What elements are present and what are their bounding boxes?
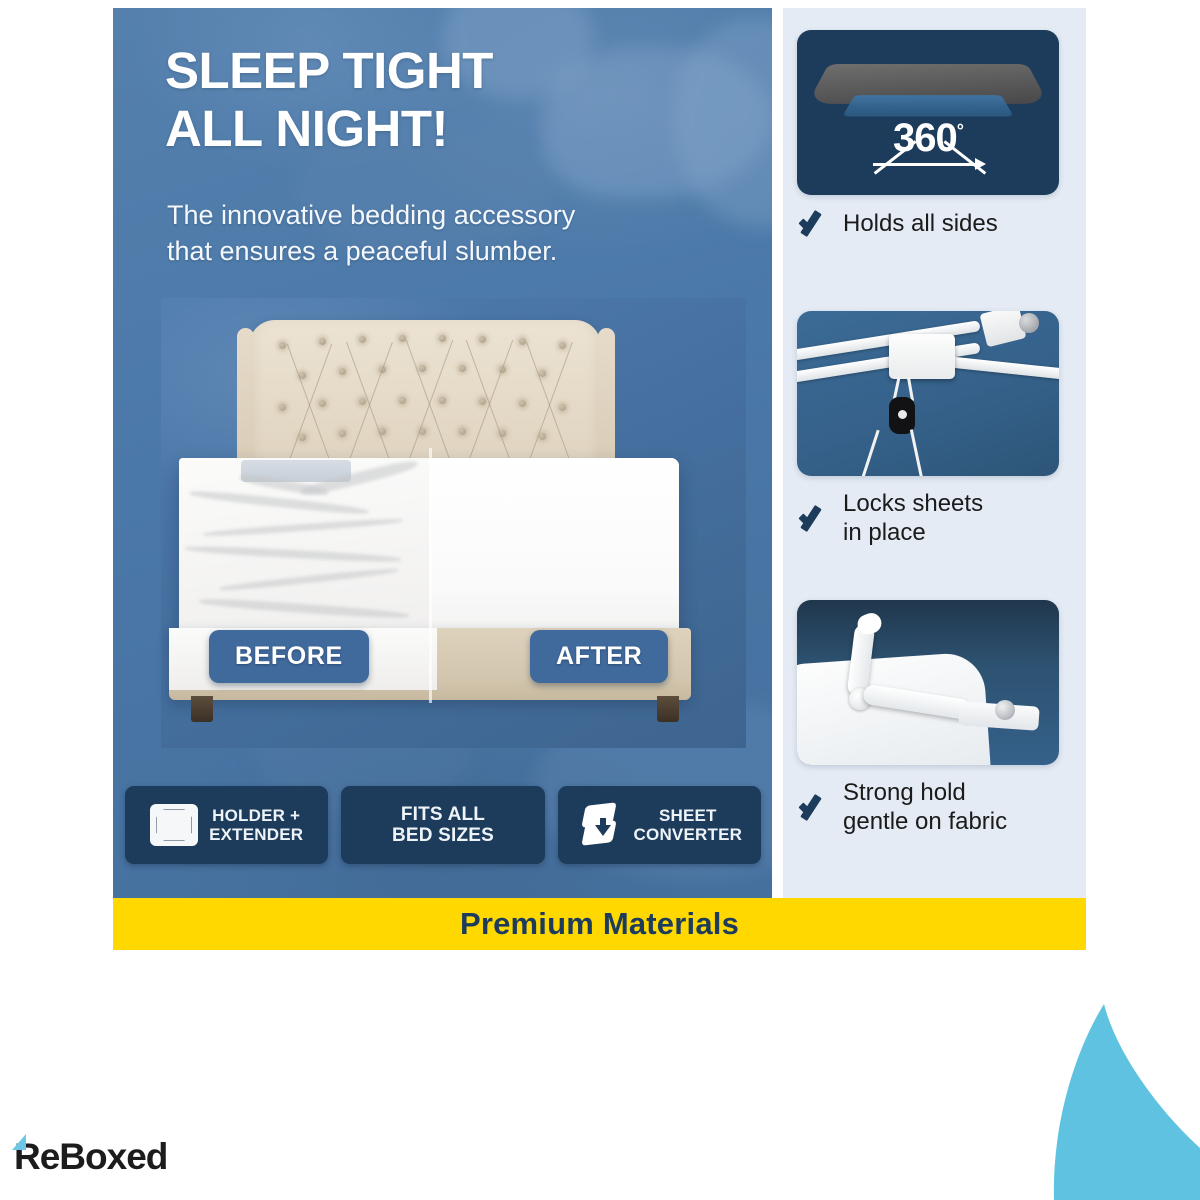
feature-caption-row: Locks sheets in place xyxy=(783,490,1086,548)
degree-symbol: ° xyxy=(957,121,963,141)
badge-sheet-converter-label: SHEET CONVERTER xyxy=(634,806,743,844)
brand-name: ReBoxed xyxy=(14,1136,167,1177)
360-degree-text: 360° xyxy=(797,116,1059,161)
grommet xyxy=(1019,313,1039,333)
bed-leg-left xyxy=(191,696,213,722)
strap-clip-photo xyxy=(797,311,1059,476)
feature-label-line-2: in place xyxy=(843,519,926,546)
banner-text: Premium Materials xyxy=(460,906,739,942)
mattress-before-half xyxy=(179,458,429,643)
badge-fits-all-label: FITS ALL BED SIZES xyxy=(392,804,494,847)
strap-buckle xyxy=(889,334,955,379)
flourish-svg xyxy=(980,960,1200,1200)
degree-number: 360 xyxy=(893,116,957,160)
headline-line-2: ALL NIGHT! xyxy=(165,100,745,158)
logo-accent-triangle-icon xyxy=(12,1134,26,1150)
after-label: AFTER xyxy=(530,630,668,683)
feature-sidebar: 360° Holds all sides xyxy=(783,8,1086,898)
badge-line-1: HOLDER + xyxy=(212,806,300,825)
hero-headline: SLEEP TIGHT ALL NIGHT! xyxy=(165,42,745,157)
feature-holds-all-sides: 360° Holds all sides xyxy=(783,30,1086,239)
feature-badge-row: HOLDER + EXTENDER FITS ALL BED SIZES SHE… xyxy=(125,786,761,864)
reboxed-logo: ReBoxed xyxy=(14,1136,167,1178)
badge-line-1: SHEET xyxy=(659,806,717,825)
badge-holder-extender-label: HOLDER + EXTENDER xyxy=(209,806,303,844)
before-label: BEFORE xyxy=(209,630,369,683)
product-infographic: SLEEP TIGHT ALL NIGHT! The innovative be… xyxy=(0,0,1200,1200)
360-degree-mattress-icon: 360° xyxy=(797,30,1059,195)
before-after-divider xyxy=(429,448,432,703)
fabric-clip-photo xyxy=(797,600,1059,765)
sheet-convert-icon xyxy=(577,803,623,847)
hero-panel: SLEEP TIGHT ALL NIGHT! The innovative be… xyxy=(113,8,772,898)
check-icon xyxy=(797,793,831,823)
feature-caption-row: Strong hold gentle on fabric xyxy=(783,779,1086,837)
headboard-wing-right xyxy=(598,328,615,474)
logo-text: ReBoxed xyxy=(14,1136,167,1178)
mattress-after-half xyxy=(429,458,679,643)
check-icon xyxy=(797,209,831,239)
headboard-wing-left xyxy=(237,328,254,474)
badge-line-2: BED SIZES xyxy=(392,825,494,846)
feature-label: Holds all sides xyxy=(843,210,998,239)
feature-label-line-1: Strong hold xyxy=(843,779,966,806)
subheadline-line-2: that ensures a peaceful slumber. xyxy=(167,234,727,270)
feature-label-line-2: gentle on fabric xyxy=(843,808,1007,835)
badge-line-2: CONVERTER xyxy=(634,825,743,844)
badge-sheet-converter[interactable]: SHEET CONVERTER xyxy=(558,786,761,864)
badge-line-2: EXTENDER xyxy=(209,825,303,844)
feature-label-line-1: Holds all sides xyxy=(843,210,998,237)
mattress-corner-icon xyxy=(150,804,198,846)
hero-subheadline: The innovative bedding accessory that en… xyxy=(167,198,727,269)
mattress-underside xyxy=(842,95,1014,116)
corner-flourish-graphic xyxy=(980,960,1200,1200)
feature-caption-row: Holds all sides xyxy=(783,209,1086,239)
feature-strong-hold: Strong hold gentle on fabric xyxy=(783,600,1086,837)
badge-fits-all-bed-sizes[interactable]: FITS ALL BED SIZES xyxy=(341,786,544,864)
sheet-tab xyxy=(979,311,1026,347)
feature-label-line-1: Locks sheets xyxy=(843,490,983,517)
headline-line-1: SLEEP TIGHT xyxy=(165,42,745,100)
badge-holder-extender[interactable]: HOLDER + EXTENDER xyxy=(125,786,328,864)
premium-materials-banner: Premium Materials xyxy=(113,898,1086,950)
subheadline-line-1: The innovative bedding accessory xyxy=(167,198,727,234)
bed-leg-right xyxy=(657,696,679,722)
feature-label: Strong hold gentle on fabric xyxy=(843,779,1007,837)
check-icon xyxy=(797,504,831,534)
clip-snap xyxy=(995,700,1015,720)
feature-label: Locks sheets in place xyxy=(843,490,983,548)
feature-locks-sheets: Locks sheets in place xyxy=(783,311,1086,548)
badge-line-1: FITS ALL xyxy=(401,804,485,825)
